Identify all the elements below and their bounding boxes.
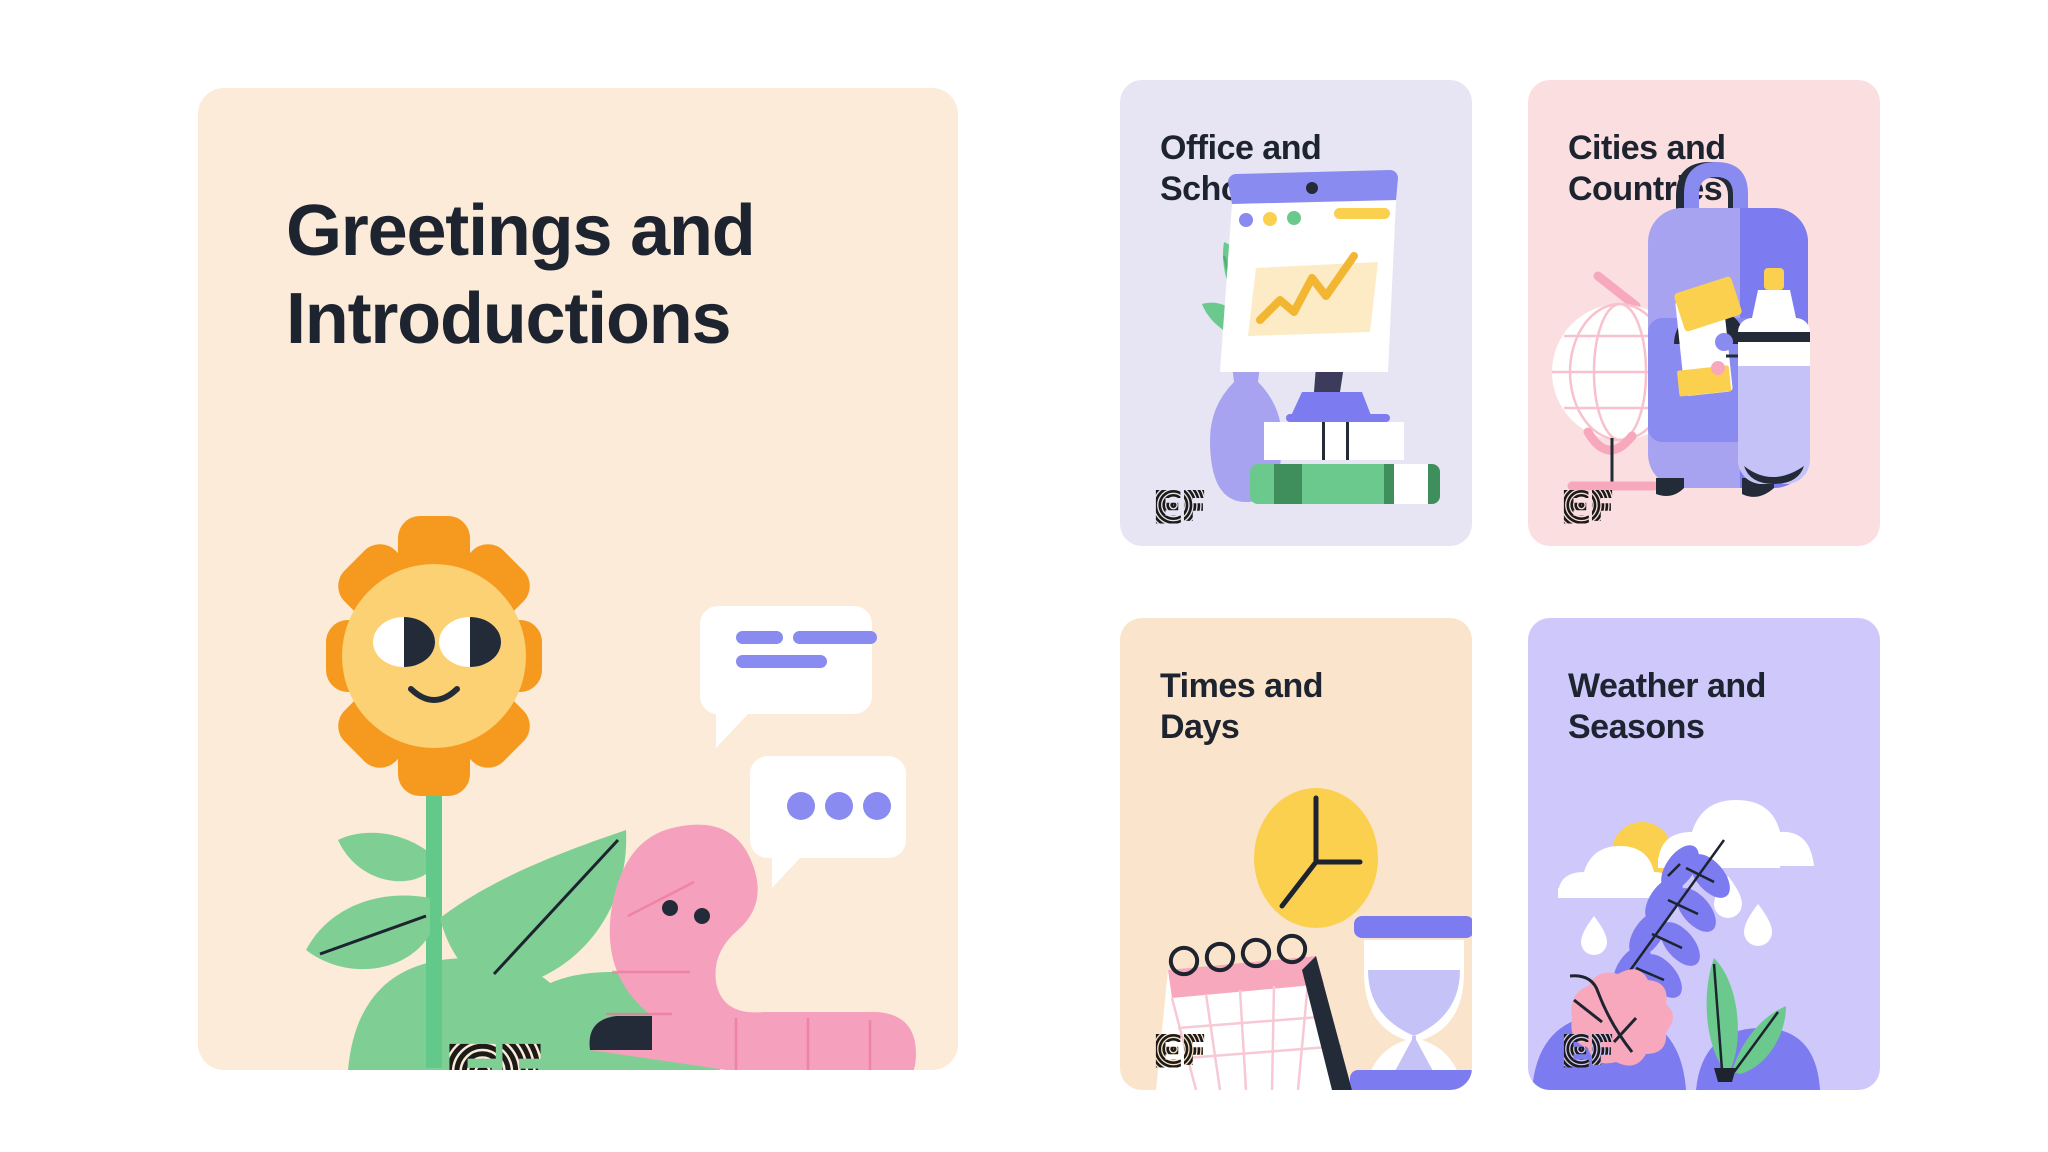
leaf-right bbox=[440, 830, 626, 990]
office-illustration bbox=[1120, 80, 1472, 546]
speech-bubble-dots-icon bbox=[750, 756, 906, 888]
card-weather-and-seasons[interactable]: Weather and Seasons bbox=[1528, 618, 1880, 1090]
hero-card-greetings-and-introductions[interactable]: Greetings and Introductions bbox=[198, 88, 958, 1070]
hero-illustration bbox=[198, 88, 958, 1070]
pink-worm bbox=[590, 825, 916, 1070]
card-times-and-days[interactable]: Times and Days bbox=[1120, 618, 1472, 1090]
cities-illustration bbox=[1528, 80, 1880, 546]
clock-icon bbox=[1254, 788, 1378, 928]
ef-logo bbox=[1154, 486, 1206, 524]
ef-logo bbox=[1154, 1030, 1206, 1068]
card-cities-and-countries[interactable]: Cities and Countries bbox=[1528, 80, 1880, 546]
speech-bubble-lines-icon bbox=[700, 606, 877, 748]
page-root: Greetings and Introductions bbox=[0, 0, 2048, 1152]
leaf-left bbox=[306, 895, 430, 969]
ef-logo bbox=[1562, 1030, 1614, 1068]
backpack-icon bbox=[1648, 162, 1810, 497]
card-office-and-school[interactable]: Office and School bbox=[1120, 80, 1472, 546]
times-illustration bbox=[1120, 618, 1472, 1090]
smiling-flower bbox=[326, 516, 542, 796]
hourglass-icon bbox=[1350, 916, 1472, 1090]
ef-logo bbox=[1562, 486, 1614, 524]
ef-logo bbox=[446, 1036, 544, 1070]
leaf-mid bbox=[338, 833, 426, 881]
weather-illustration bbox=[1528, 618, 1880, 1090]
